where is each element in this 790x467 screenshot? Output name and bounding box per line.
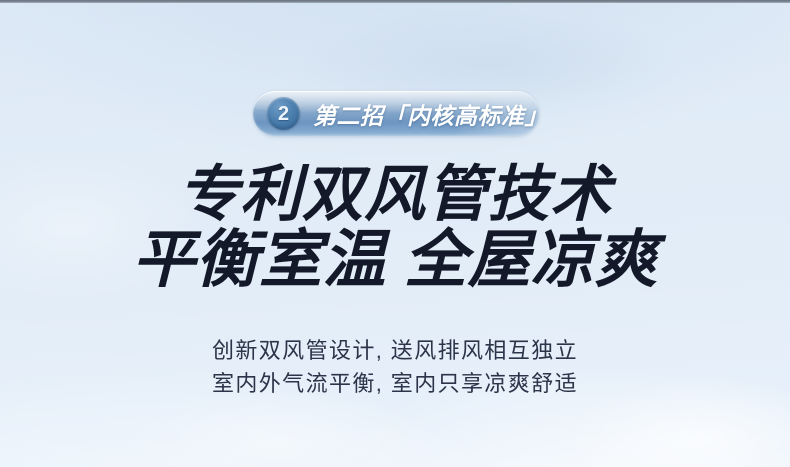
headline-line-1: 专利双风管技术 bbox=[0, 162, 790, 227]
step-badge: 2 第二招「内核高标准」 bbox=[253, 91, 539, 136]
subtitle-line-2: 室内外气流平衡, 室内只享凉爽舒适 bbox=[0, 368, 790, 401]
subtitle-line-1: 创新双风管设计, 送风排风相互独立 bbox=[0, 335, 790, 368]
headline: 专利双风管技术 平衡室温 全屋凉爽 bbox=[0, 162, 790, 295]
step-number-label: 2 bbox=[278, 104, 289, 124]
top-edge-strip bbox=[0, 0, 790, 3]
step-number-circle: 2 bbox=[267, 97, 300, 130]
promo-banner: 2 第二招「内核高标准」 专利双风管技术 平衡室温 全屋凉爽 创新双风管设计, … bbox=[0, 0, 790, 467]
step-title-label: 第二招「内核高标准」 bbox=[313, 97, 539, 131]
headline-line-2: 平衡室温 全屋凉爽 bbox=[0, 227, 790, 294]
subtitle: 创新双风管设计, 送风排风相互独立 室内外气流平衡, 室内只享凉爽舒适 bbox=[0, 335, 790, 400]
sky-cloud-bottom-left bbox=[130, 392, 430, 467]
